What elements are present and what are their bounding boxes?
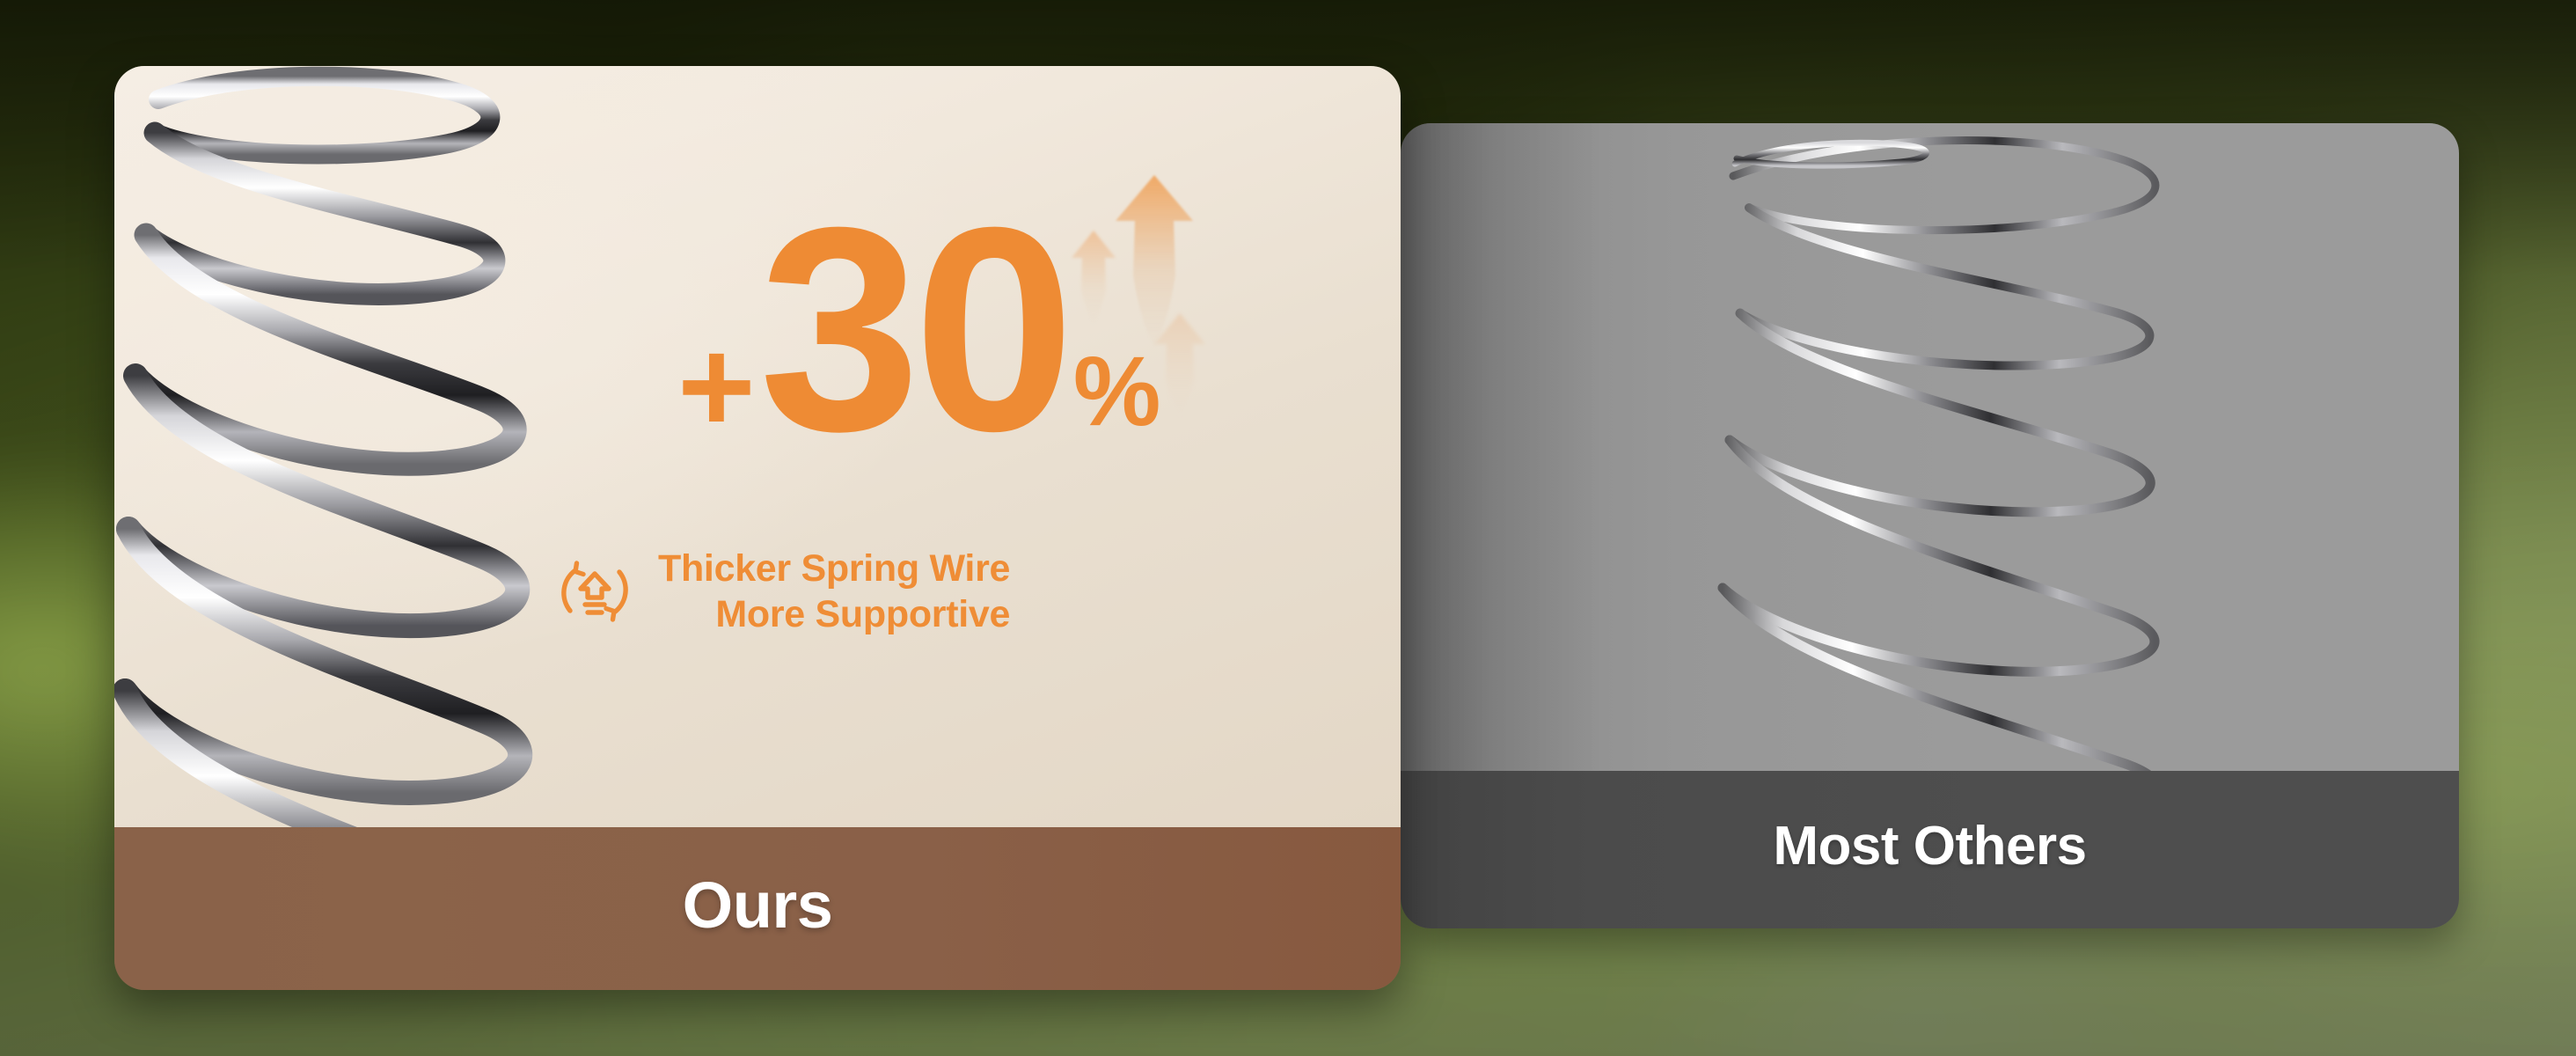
- ours-card-body: + 30 %: [114, 66, 1401, 827]
- most-others-label-bar: Most Others: [1401, 771, 2459, 928]
- ours-label-bar: Ours: [114, 827, 1401, 990]
- percent-highlight: + 30 %: [677, 163, 1328, 532]
- ours-card: + 30 %: [114, 66, 1401, 990]
- feature-line-1: Thicker Spring Wire: [658, 546, 1010, 591]
- thin-spring-illustration: [1636, 123, 2199, 817]
- thick-spring-illustration: [114, 66, 554, 944]
- upgrade-icon: [554, 551, 635, 632]
- most-others-label: Most Others: [1773, 815, 2086, 877]
- feature-callout: Thicker Spring Wire More Supportive: [554, 546, 1010, 638]
- most-others-card-body: [1401, 123, 2459, 771]
- ours-label: Ours: [683, 868, 833, 942]
- feature-text: Thicker Spring Wire More Supportive: [658, 546, 1010, 638]
- left-card-cast-shadow: [1401, 123, 1603, 771]
- percent-unit: %: [1073, 348, 1161, 436]
- percent-value-row: + 30 %: [677, 198, 1328, 459]
- most-others-card: Most Others: [1401, 123, 2459, 928]
- percent-number: 30: [759, 198, 1068, 459]
- plus-sign: +: [677, 326, 756, 447]
- feature-line-2: More Supportive: [715, 591, 1010, 637]
- comparison-banner: Most Others: [0, 0, 2576, 1056]
